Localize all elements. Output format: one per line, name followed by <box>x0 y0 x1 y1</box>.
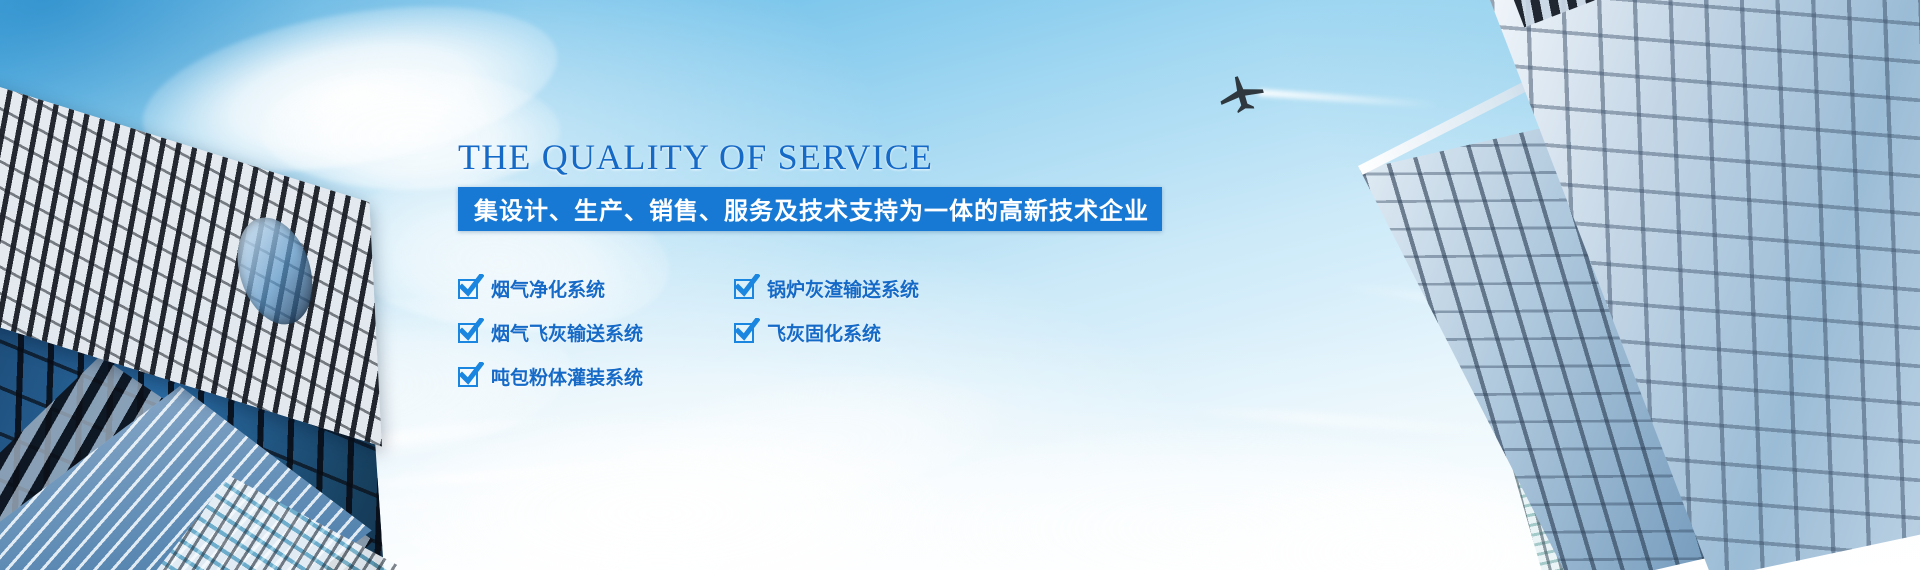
feature-list: 烟气净化系统 锅炉灰渣输送系统 烟气飞灰输送系统 飞灰固化系统 <box>458 267 1218 399</box>
airplane-icon <box>1211 70 1271 116</box>
banner-content: THE QUALITY OF SERVICE 集设计、生产、销售、服务及技术支持… <box>458 138 1218 399</box>
feature-item[interactable]: 吨包粉体灌装系统 <box>458 355 730 399</box>
hero-banner: THE QUALITY OF SERVICE 集设计、生产、销售、服务及技术支持… <box>0 0 1920 570</box>
slogan-bar: 集设计、生产、销售、服务及技术支持为一体的高新技术企业 <box>458 187 1162 231</box>
headline-english: THE QUALITY OF SERVICE <box>458 138 1218 177</box>
slogan-text: 集设计、生产、销售、服务及技术支持为一体的高新技术企业 <box>474 191 1149 226</box>
checkbox-checked-icon <box>458 323 478 343</box>
feature-item[interactable]: 锅炉灰渣输送系统 <box>734 267 1006 311</box>
feature-label: 烟气净化系统 <box>491 275 605 302</box>
feature-label: 烟气飞灰输送系统 <box>491 319 643 346</box>
feature-item[interactable]: 飞灰固化系统 <box>734 311 1006 355</box>
checkbox-checked-icon <box>458 367 478 387</box>
feature-item[interactable]: 烟气飞灰输送系统 <box>458 311 730 355</box>
checkbox-checked-icon <box>458 279 478 299</box>
feature-item[interactable]: 烟气净化系统 <box>458 267 730 311</box>
checkbox-checked-icon <box>734 323 754 343</box>
feature-label: 吨包粉体灌装系统 <box>491 363 643 390</box>
feature-label: 飞灰固化系统 <box>767 319 881 346</box>
checkbox-checked-icon <box>734 279 754 299</box>
feature-label: 锅炉灰渣输送系统 <box>767 275 919 302</box>
